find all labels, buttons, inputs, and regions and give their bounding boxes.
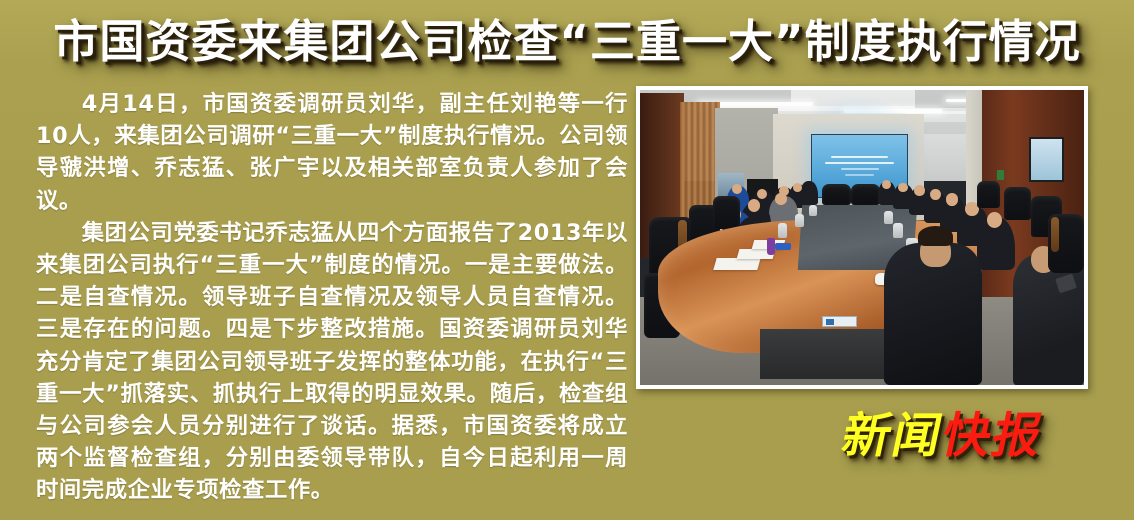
photo-thermos [893, 223, 903, 238]
photo-thermos [884, 211, 893, 224]
article-paragraph-2: 集团公司党委书记乔志猛从四个方面报告了2013年以来集团公司执行“三重一大”制度… [36, 217, 628, 507]
photo-table-plate [822, 316, 857, 327]
photo-wall-monitor [1029, 137, 1064, 182]
photo-table-base [760, 329, 884, 379]
photo-chair [1004, 187, 1031, 219]
news-logo-part-2: 快报 [938, 412, 1048, 460]
photo-person-face [914, 185, 924, 195]
article-body: 4月14日，市国资委调研员刘华，副主任刘艳等一行10人，来集团公司调研“三重一大… [36, 88, 628, 507]
photo-document [714, 258, 762, 270]
news-logo-part-1: 新闻 [838, 412, 948, 460]
photo-thermos [795, 214, 804, 227]
photo-chair [851, 184, 880, 205]
photo-person-face [898, 183, 907, 192]
photo-chair [822, 184, 851, 205]
photo-person-hair [918, 226, 954, 247]
photo-chair [713, 196, 740, 228]
headline-bar: 市国资委来集团公司检查“三重一大”制度执行情况 [0, 0, 1134, 82]
photo-thermos [778, 223, 788, 238]
photo-chair [977, 181, 999, 208]
news-bulletin-logo: 新闻 快报 [838, 412, 1048, 460]
photo-person-foreground [1013, 255, 1084, 385]
article-paragraph-1: 4月14日，市国资委调研员刘华，副主任刘艳等一行10人，来集团公司调研“三重一大… [36, 88, 628, 217]
meeting-room-photo [640, 90, 1084, 385]
photo-person-face [775, 193, 787, 205]
photo-frame [636, 86, 1088, 389]
news-poster: 市国资委来集团公司检查“三重一大”制度执行情况 4月14日，市国资委调研员刘华，… [0, 0, 1134, 520]
photo-exit-sign [997, 170, 1004, 180]
photo-chair-trim [1051, 217, 1059, 252]
photo-bottle [775, 243, 791, 250]
photo-person-face [793, 183, 802, 192]
photo-bottle [767, 238, 776, 256]
photo-person-face [946, 193, 958, 205]
page-title: 市国资委来集团公司检查“三重一大”制度执行情况 [53, 19, 1080, 64]
photo-thermos [809, 205, 817, 216]
